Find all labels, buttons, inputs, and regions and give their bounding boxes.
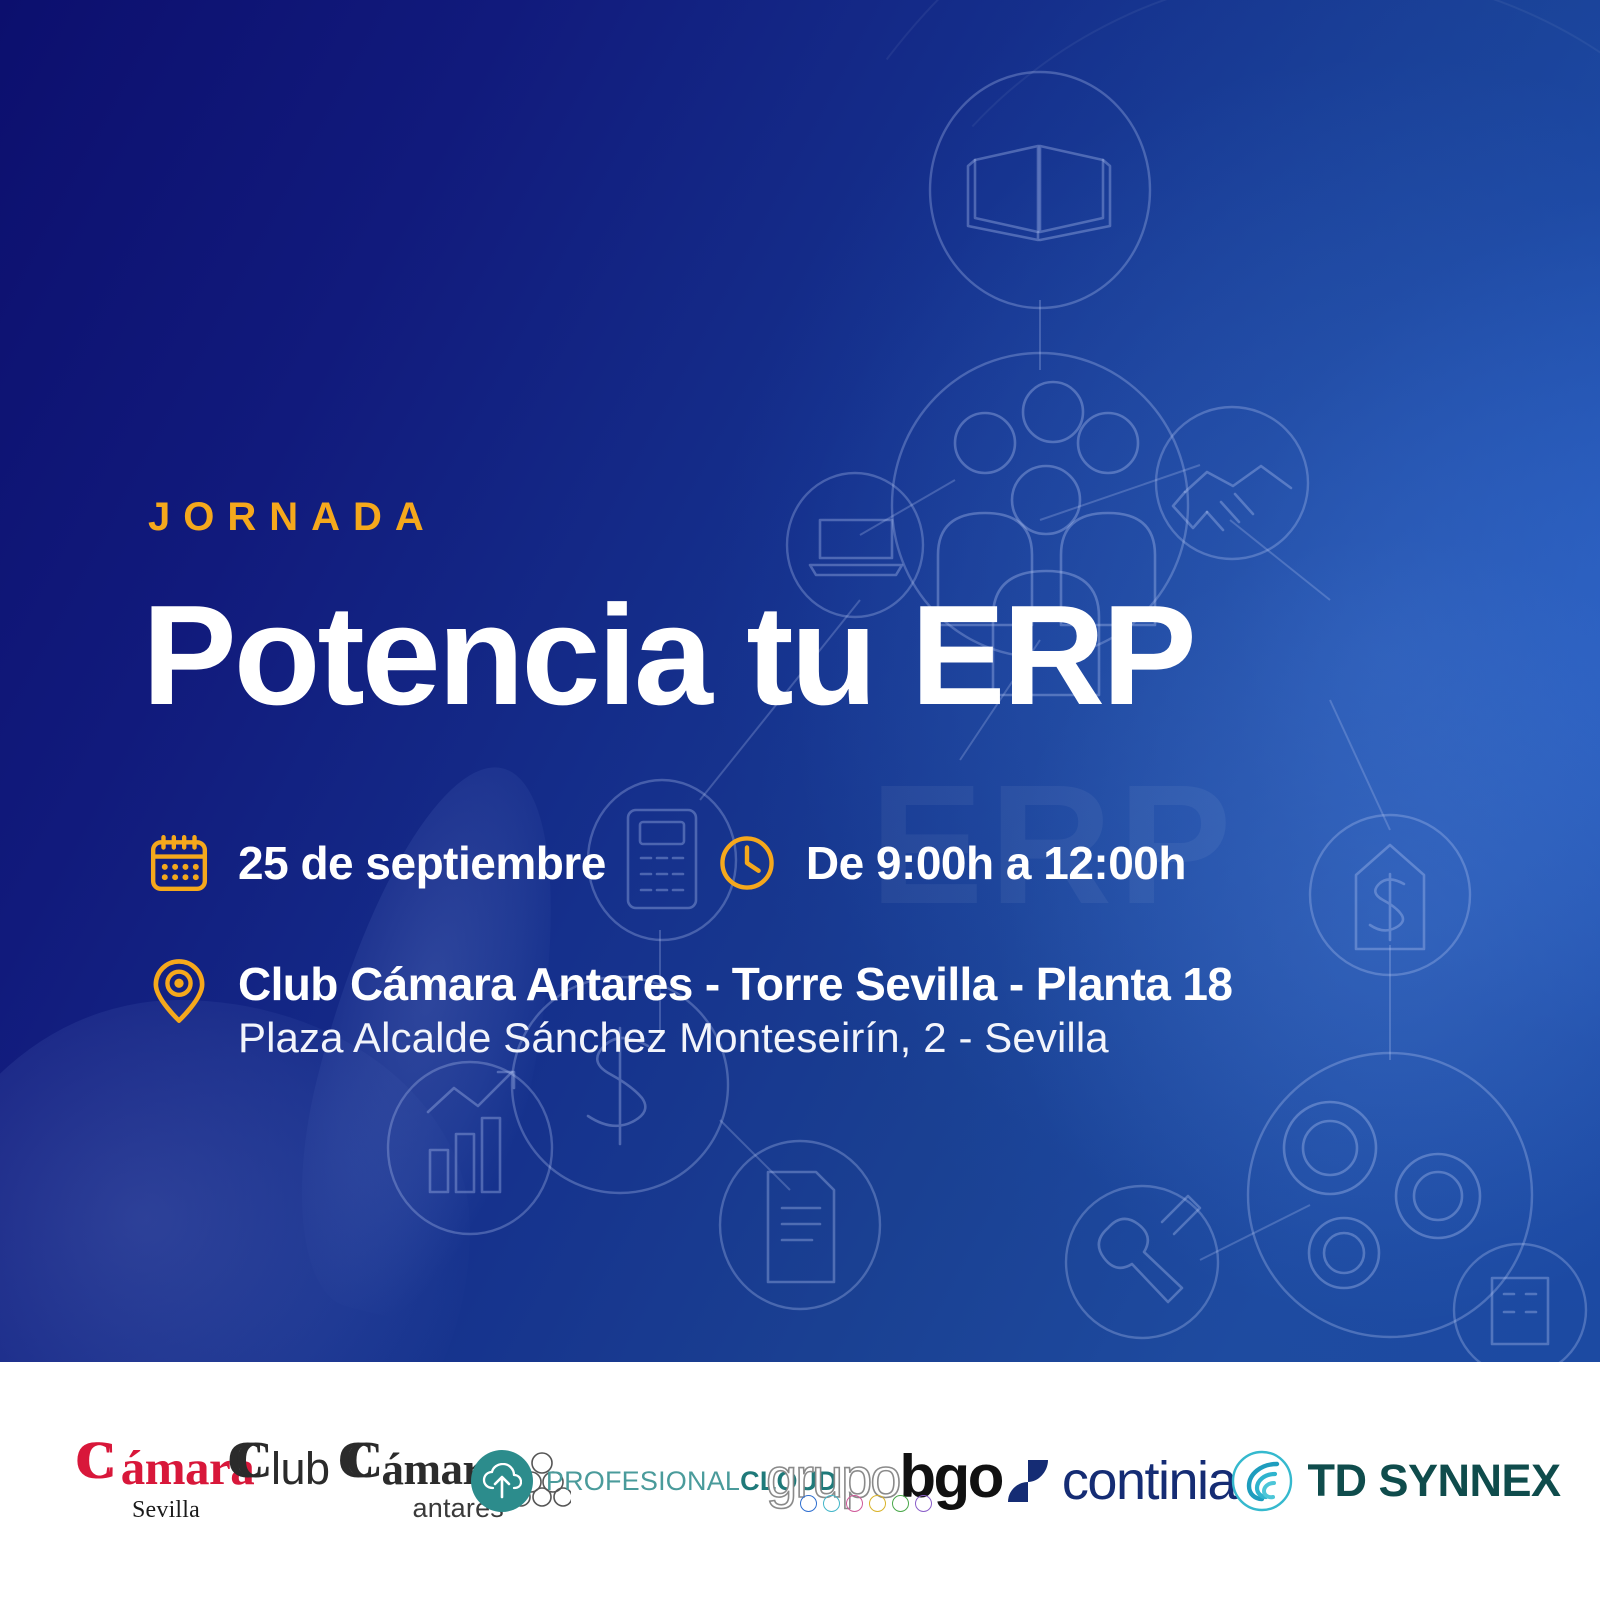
club-word-lub: lub	[271, 1446, 330, 1491]
hero-background: ERP	[0, 0, 1600, 1362]
club-sublabel: antares	[231, 1495, 504, 1522]
bgo-chip-1	[800, 1495, 817, 1512]
camara-c-front: C	[78, 1438, 117, 1482]
event-date-text: 25 de septiembre	[238, 836, 606, 890]
node-gears	[1248, 1053, 1532, 1337]
calendar-icon	[148, 832, 210, 894]
bgo-chip-3	[846, 1495, 863, 1512]
bgo-chip-4	[869, 1495, 886, 1512]
continia-mark-icon	[1006, 1458, 1050, 1504]
camara-c-icon: C C	[78, 1438, 120, 1484]
logo-grupo-bgo[interactable]: grupo bgo	[778, 1450, 990, 1512]
event-date: 25 de septiembre	[148, 832, 606, 894]
logo-continia[interactable]: continia	[990, 1450, 1252, 1512]
bgo-chip-5	[892, 1495, 909, 1512]
eyebrow-label: JORNADA	[148, 495, 437, 540]
td-synnex-wordmark: TD SYNNEX	[1307, 1455, 1560, 1507]
sponsor-footer: C C ámara Sevilla C C lub	[0, 1362, 1600, 1600]
event-venue: Club Cámara Antares - Torre Sevilla - Pl…	[148, 955, 1528, 1065]
event-time: De 9:00h a 12:00h	[716, 832, 1186, 894]
bgo-chip-6	[915, 1495, 932, 1512]
venue-address: Plaza Alcalde Sánchez Monteseirín, 2 - S…	[238, 1014, 1109, 1061]
node-bar-chart-growth	[388, 1062, 552, 1234]
logo-td-synnex[interactable]: TD SYNNEX	[1252, 1450, 1540, 1512]
bgo-chip-2	[823, 1495, 840, 1512]
club-line-1: C C lub C C ámara	[231, 1440, 504, 1492]
venue-text-block: Club Cámara Antares - Torre Sevilla - Pl…	[238, 957, 1528, 1065]
cloud-upload-icon	[471, 1450, 533, 1512]
event-poster: ERP	[0, 0, 1600, 1600]
node-wrench-screwdriver	[1066, 1186, 1218, 1338]
venue-name: Club Cámara Antares - Torre Sevilla - Pl…	[238, 958, 1232, 1010]
logo-profesionalcloud[interactable]: PROFESIONALCLOUD	[530, 1450, 778, 1512]
club-c1-front: C	[235, 1440, 272, 1482]
node-building	[1454, 1244, 1586, 1362]
event-meta-row: 25 de septiembre De 9:00h a 12:00h	[148, 832, 1448, 894]
arc-5	[823, 0, 1600, 967]
node-open-book	[930, 72, 1150, 308]
td-synnex-swirl-icon	[1231, 1450, 1293, 1512]
event-time-text: De 9:00h a 12:00h	[806, 836, 1186, 890]
location-pin-icon	[148, 955, 210, 1027]
clock-icon	[716, 832, 778, 894]
bgo-division-icons	[800, 1495, 932, 1512]
camara-sublabel: Sevilla	[132, 1497, 200, 1524]
club-words: C C lub C C ámara antares	[231, 1440, 504, 1522]
node-handshake	[1156, 407, 1308, 559]
pcloud-part1: PROFESIONAL	[546, 1466, 740, 1496]
node-document	[720, 1141, 880, 1309]
club-c-icon-2: C C	[342, 1440, 382, 1484]
club-c2-front: C	[346, 1440, 383, 1482]
continia-wordmark: continia	[1062, 1450, 1236, 1512]
club-c-icon-1: C C	[231, 1440, 271, 1484]
page-title: Potencia tu ERP	[142, 585, 1194, 727]
